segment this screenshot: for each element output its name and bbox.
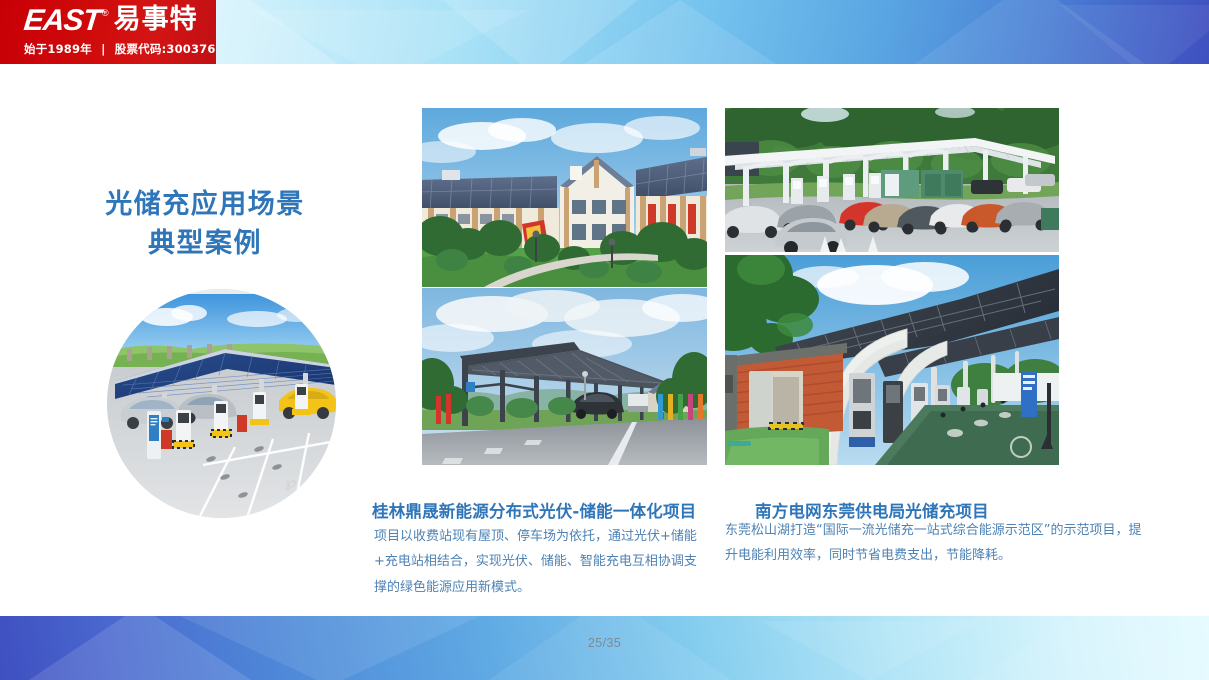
- logo-lockup: EAST ® 易事特: [24, 6, 198, 36]
- rooftop-solar-panels-photo: [422, 108, 707, 287]
- case-photo-curved-canopy-station: [725, 255, 1059, 465]
- page-number: 25/35: [0, 636, 1209, 650]
- logo-latin-wordmark: EAST: [22, 6, 101, 36]
- case-body-right: 东莞松山湖打造“国际一流光储充一站式综合能源示范区”的示范项目，提升电能利用效率…: [725, 518, 1145, 569]
- logo-founded-year: 始于1989年: [24, 42, 92, 56]
- registered-trademark-icon: ®: [102, 8, 109, 18]
- logo-tagline: 始于1989年 | 股票代码:300376: [24, 41, 216, 57]
- white-solar-carport-parking-photo: [725, 108, 1059, 252]
- solar-carport-roadway-photo: [422, 288, 707, 465]
- page-title-line-1: 光储充应用场景: [105, 189, 305, 220]
- case-photo-carport-roadway: [422, 288, 707, 465]
- footer-polygon-decoration: [760, 621, 980, 680]
- company-logo-bar: EAST ® 易事特 始于1989年 | 股票代码:300376: [0, 0, 216, 64]
- curved-solar-canopy-charging-photo: [725, 255, 1059, 465]
- case-body-left: 项目以收费站现有屋顶、停车场为依托，通过光伏+储能+充电站相结合，实现光伏、储能…: [374, 524, 704, 600]
- svg-text:℘: ℘: [285, 472, 296, 491]
- case-photo-rooftop-solar: [422, 108, 707, 287]
- solar-carport-illustration: ℘: [107, 289, 336, 518]
- header-polygon-decoration: [1060, 5, 1209, 64]
- page-title-line-2: 典型案例: [40, 224, 370, 263]
- case-heading-left: 桂林鼎晟新能源分布式光伏-储能一体化项目: [372, 498, 696, 522]
- logo-stock-code: 股票代码:300376: [115, 42, 216, 56]
- logo-tagline-separator: |: [101, 42, 105, 56]
- logo-chinese-wordmark: 易事特: [114, 6, 198, 33]
- slide-root: EAST ® 易事特 始于1989年 | 股票代码:300376 光储充应用场景…: [0, 0, 1209, 680]
- header-polygon-decoration: [560, 0, 800, 64]
- hero-circle-image: ℘: [107, 289, 336, 518]
- case-photo-parking-carport: [725, 108, 1059, 252]
- page-title: 光储充应用场景 典型案例: [40, 185, 370, 263]
